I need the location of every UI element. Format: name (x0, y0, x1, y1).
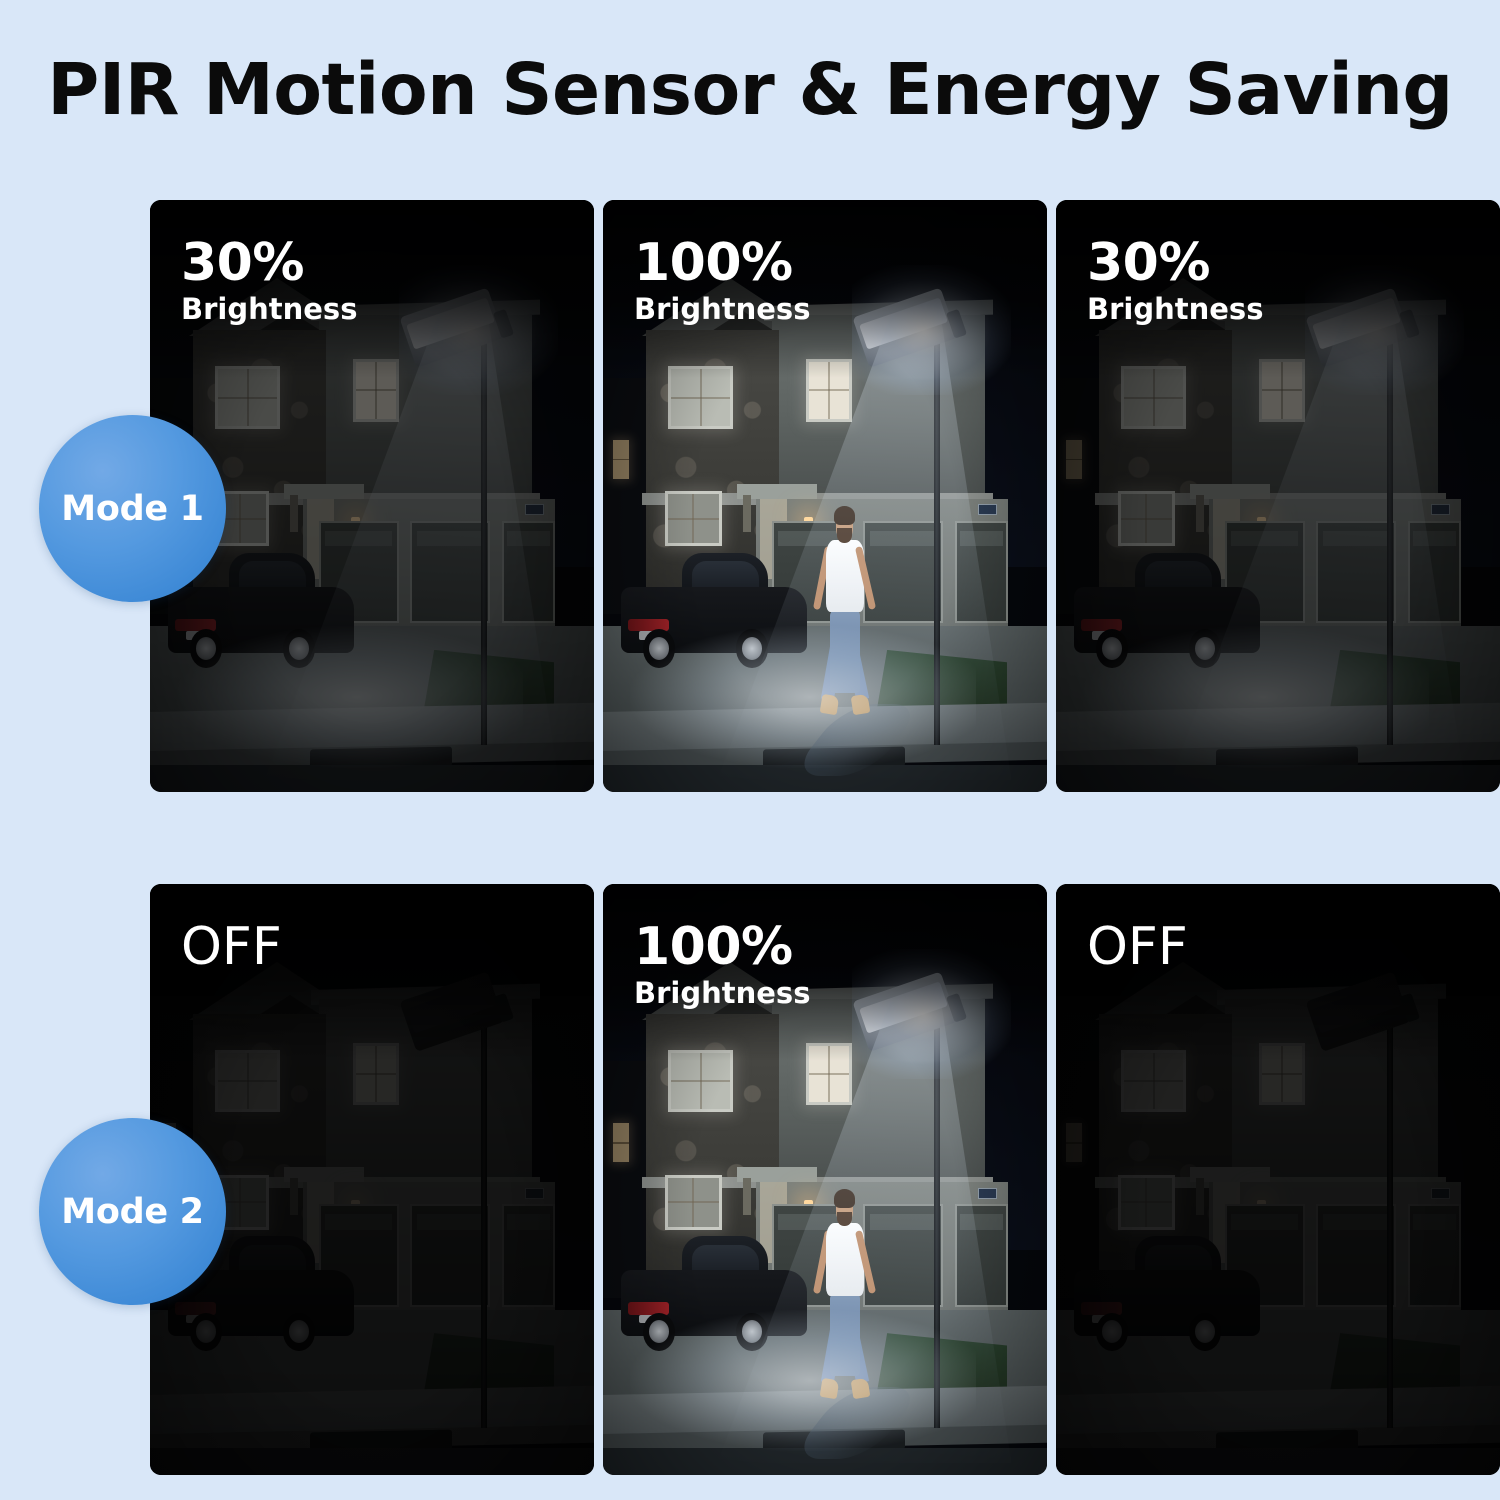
brightness-caption: Brightness (634, 976, 810, 1011)
porch-post (1196, 495, 1204, 532)
neighbor-window (1066, 1123, 1082, 1162)
garage-door-2 (410, 521, 490, 624)
brightness-value: 30% (181, 236, 357, 290)
street (150, 765, 594, 792)
porch-post (743, 1178, 751, 1215)
brightness-value: 100% (634, 236, 810, 290)
street (1056, 765, 1500, 792)
mode-1-panel-row: 30% Brightness (150, 200, 1500, 792)
street (603, 1448, 1047, 1475)
address-plaque (978, 504, 997, 515)
light-pole (481, 990, 488, 1427)
window-lower-left (1118, 491, 1175, 546)
window-lower-left (665, 491, 722, 546)
panel-mode2-100-center[interactable]: 100% Brightness (603, 884, 1047, 1475)
address-plaque (1431, 1188, 1450, 1199)
window-upper-left (1121, 366, 1186, 428)
porch-post (290, 1178, 298, 1215)
garage-door-3 (955, 1204, 1008, 1307)
light-pole (934, 990, 941, 1427)
parked-car (1074, 1245, 1260, 1351)
window-upper-right (1259, 1043, 1305, 1105)
brightness-value: 30% (1087, 236, 1263, 290)
garage-door-2 (1316, 521, 1396, 624)
garage-door-3 (1408, 1204, 1461, 1307)
parked-car (621, 1245, 807, 1351)
neighbor-window (613, 1123, 629, 1162)
address-plaque (1431, 504, 1450, 515)
panel-mode1-100-center[interactable]: 100% Brightness (603, 200, 1047, 792)
window-upper-right (353, 1043, 399, 1105)
brightness-value: OFF (181, 920, 282, 974)
parked-car (1074, 561, 1260, 668)
garage-door-3 (1408, 521, 1461, 624)
light-pole (481, 307, 488, 745)
panel-label: 30% Brightness (181, 236, 357, 327)
window-upper-left (668, 1050, 733, 1112)
window-lower-left (665, 1175, 722, 1230)
garage-door-3 (955, 521, 1008, 624)
porch-post (1196, 1178, 1204, 1215)
infographic-root: PIR Motion Sensor & Energy Saving (0, 0, 1500, 1500)
address-plaque (525, 504, 544, 515)
brightness-value: 100% (634, 920, 810, 974)
window-lower-left (1118, 1175, 1175, 1230)
porch-post (290, 495, 298, 532)
mode-2-badge[interactable]: Mode 2 (39, 1118, 226, 1305)
neighbor-window (613, 440, 629, 479)
mode-2-panel-row: OFF (150, 884, 1500, 1475)
window-upper-right (806, 1043, 852, 1105)
mode-1-badge[interactable]: Mode 1 (39, 415, 226, 602)
street (150, 1448, 594, 1475)
panel-label: OFF (181, 920, 282, 974)
brightness-caption: Brightness (181, 292, 357, 327)
window-upper-left (668, 366, 733, 428)
walking-person (812, 1191, 879, 1404)
brightness-value: OFF (1087, 920, 1188, 974)
light-pole (934, 307, 941, 745)
garage-door-2 (410, 1204, 490, 1307)
address-plaque (978, 1188, 997, 1199)
light-pole (1387, 307, 1394, 745)
window-upper-right (353, 359, 399, 421)
porch-post (743, 495, 751, 532)
panel-label: OFF (1087, 920, 1188, 974)
panel-mode1-30-right[interactable]: 30% Brightness (1056, 200, 1500, 792)
panel-mode2-off-right[interactable]: OFF (1056, 884, 1500, 1475)
address-plaque (525, 1188, 544, 1199)
garage-door-3 (502, 521, 555, 624)
parked-car (621, 561, 807, 668)
garage-door-3 (502, 1204, 555, 1307)
window-upper-left (215, 366, 280, 428)
window-upper-right (806, 359, 852, 421)
light-pole (1387, 990, 1394, 1427)
panel-label: 100% Brightness (634, 920, 810, 1011)
neighbor-window (1066, 440, 1082, 479)
panel-label: 30% Brightness (1087, 236, 1263, 327)
page-title: PIR Motion Sensor & Energy Saving (0, 48, 1500, 131)
panel-label: 100% Brightness (634, 236, 810, 327)
garage-door-2 (1316, 1204, 1396, 1307)
street (1056, 1448, 1500, 1475)
window-upper-left (215, 1050, 280, 1112)
brightness-caption: Brightness (1087, 292, 1263, 327)
window-upper-right (1259, 359, 1305, 421)
brightness-caption: Brightness (634, 292, 810, 327)
street (603, 765, 1047, 792)
window-upper-left (1121, 1050, 1186, 1112)
walking-person (812, 508, 879, 721)
